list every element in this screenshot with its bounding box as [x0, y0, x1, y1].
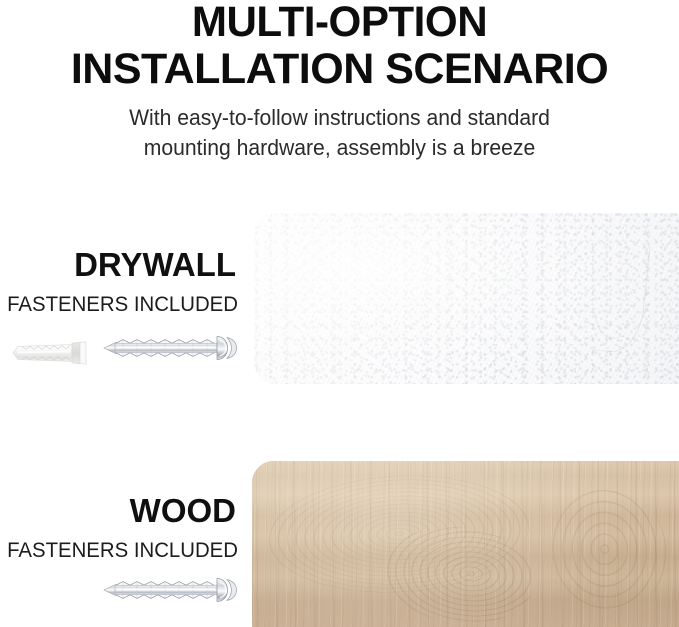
wood-title: WOOD — [0, 494, 236, 527]
drywall-light-sheen — [254, 213, 679, 384]
drywall-title: DRYWALL — [0, 248, 236, 281]
wood-label-group: WOOD FASTENERS INCLUDED — [0, 494, 236, 561]
wood-screw-icon — [103, 575, 240, 605]
page-subtitle-line-1: With easy-to-follow instructions and sta… — [20, 103, 658, 133]
page-subtitle: With easy-to-follow instructions and sta… — [20, 103, 658, 162]
installation-scenario-infographic: MULTI-OPTION INSTALLATION SCENARIO With … — [0, 0, 679, 627]
drywall-texture-panel — [254, 213, 679, 384]
plastic-wall-anchor-icon — [10, 336, 90, 370]
page-subtitle-line-2: mounting hardware, assembly is a breeze — [20, 133, 658, 163]
drywall-label-group: DRYWALL FASTENERS INCLUDED — [0, 248, 236, 315]
drywall-screw-icon — [103, 333, 240, 363]
wood-grain-panel — [252, 461, 679, 627]
drywall-subtitle: FASTENERS INCLUDED — [7, 294, 236, 315]
wood-light-sheen — [252, 461, 679, 627]
page-title-line-1: MULTI-OPTION — [7, 1, 672, 44]
wood-subtitle: FASTENERS INCLUDED — [7, 540, 236, 561]
page-title-line-2: INSTALLATION SCENARIO — [0, 48, 679, 91]
header-block: MULTI-OPTION INSTALLATION SCENARIO With … — [0, 0, 679, 162]
